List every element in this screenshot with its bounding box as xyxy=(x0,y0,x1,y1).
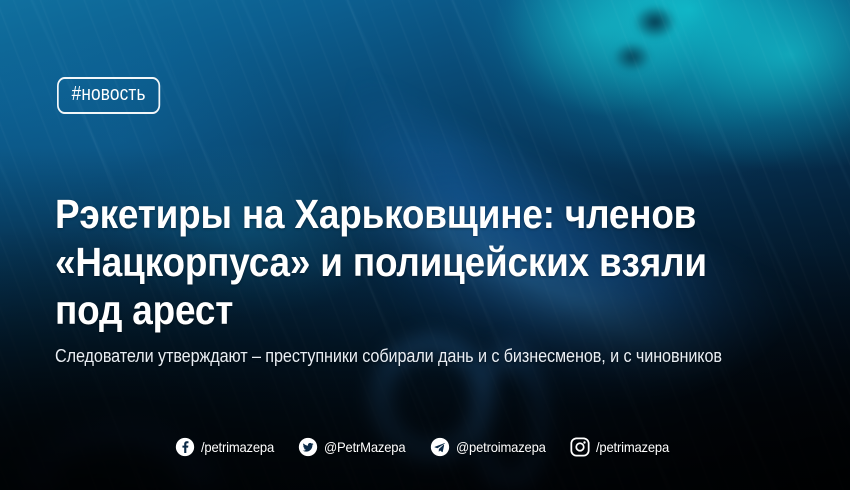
page-title: Рэкетиры на Харьковщине: членов «Нацкорп… xyxy=(55,190,739,334)
social-link-facebook[interactable]: /petrimazepa xyxy=(175,437,280,457)
social-handle-twitter: @PetrMazepa xyxy=(324,439,405,455)
news-card: #новость Рэкетиры на Харьковщине: членов… xyxy=(0,0,850,490)
social-handle-telegram: @petroimazepa xyxy=(456,439,546,455)
social-link-twitter[interactable]: @PetrMazepa xyxy=(298,437,412,457)
social-handle-facebook: /petrimazepa xyxy=(201,439,274,455)
social-links-bar: /petrimazepa @PetrMazepa @petroimazepa xyxy=(0,437,850,457)
instagram-icon xyxy=(570,437,590,457)
card-content: #новость Рэкетиры на Харьковщине: членов… xyxy=(0,0,850,490)
telegram-icon xyxy=(430,437,450,457)
subtitle-text: Следователи утверждают – преступники соб… xyxy=(55,344,766,368)
twitter-icon xyxy=(298,437,318,457)
social-link-telegram[interactable]: @petroimazepa xyxy=(430,437,552,457)
hashtag-badge[interactable]: #новость xyxy=(57,77,160,114)
social-handle-instagram: /petrimazepa xyxy=(596,439,669,455)
social-link-instagram[interactable]: /petrimazepa xyxy=(570,437,675,457)
facebook-icon xyxy=(175,437,195,457)
